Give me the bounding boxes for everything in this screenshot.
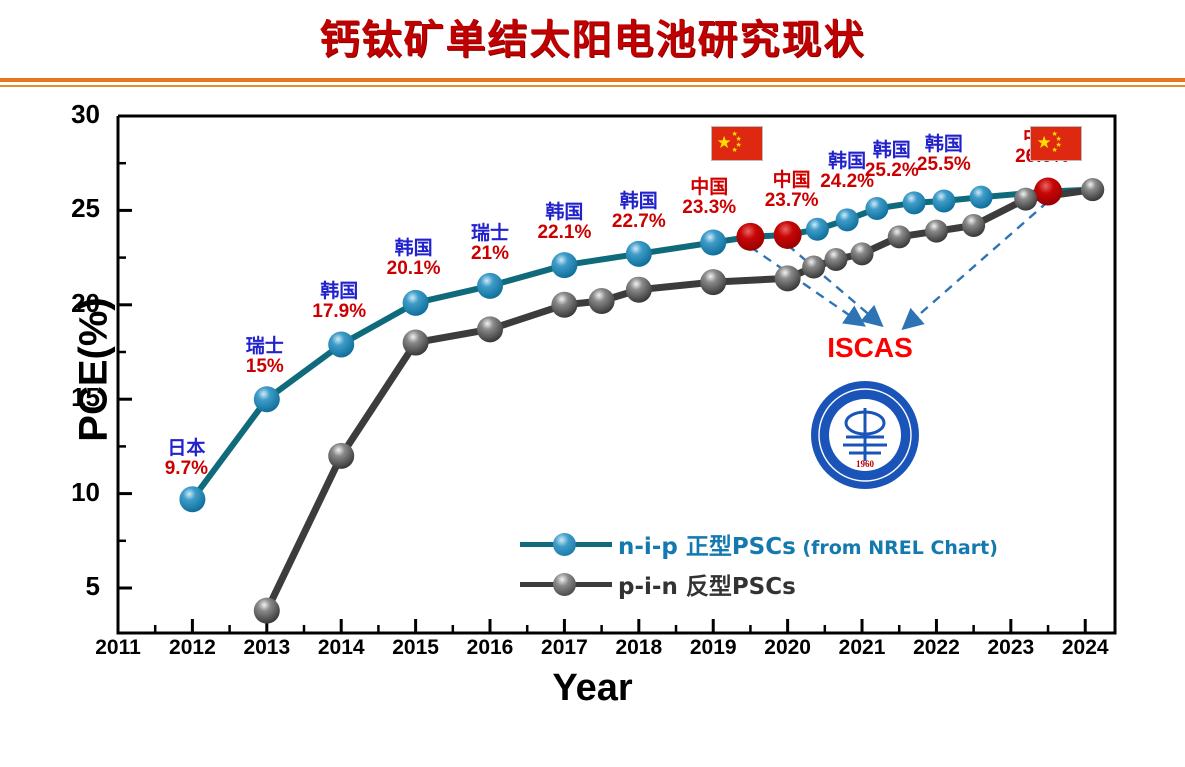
legend-item-nip[interactable]: n-i-p 正型PSCs (from NREL Chart) — [520, 524, 998, 564]
data-point-n-i-p[interactable] — [403, 290, 429, 316]
data-point-p-i-n[interactable] — [802, 256, 825, 279]
x-tick-2013: 2013 — [232, 636, 302, 660]
data-point-p-i-n[interactable] — [1014, 188, 1037, 211]
china-flag-icon: ★★★★★ — [711, 126, 763, 161]
data-point-n-i-p[interactable] — [626, 241, 652, 267]
y-tick-30: 30 — [40, 99, 100, 130]
x-tick-2015: 2015 — [381, 636, 451, 660]
title-divider-thick — [0, 78, 1185, 82]
y-tick-25: 25 — [40, 193, 100, 224]
x-tick-2021: 2021 — [827, 636, 897, 660]
data-point-p-i-n[interactable] — [962, 214, 985, 237]
data-point-n-i-p[interactable] — [970, 186, 993, 209]
china-flag-icon: ★★★★★ — [1030, 126, 1082, 161]
x-tick-2014: 2014 — [306, 636, 376, 660]
data-point-p-i-n[interactable] — [328, 443, 354, 469]
legend-item-pin[interactable]: p-i-n 反型PSCs — [520, 564, 998, 604]
data-point-p-i-n[interactable] — [888, 225, 911, 248]
data-point-n-i-p[interactable] — [806, 218, 829, 241]
data-point-p-i-n[interactable] — [403, 330, 429, 356]
data-point-p-i-n[interactable] — [589, 288, 615, 314]
data-point-p-i-n[interactable] — [254, 598, 280, 624]
data-point-p-i-n[interactable] — [626, 277, 652, 303]
data-point-highlight[interactable] — [1034, 178, 1062, 206]
x-tick-2020: 2020 — [753, 636, 823, 660]
y-tick-10: 10 — [40, 477, 100, 508]
y-tick-20: 20 — [40, 288, 100, 319]
data-point-p-i-n[interactable] — [477, 316, 503, 342]
iscas-callout-label: ISCAS — [760, 332, 980, 364]
data-point-p-i-n[interactable] — [851, 242, 874, 265]
page-title: 钙钛矿单结太阳电池研究现状 — [320, 7, 866, 65]
x-tick-2017: 2017 — [529, 636, 599, 660]
iscas-logo-year: 1960 — [856, 459, 875, 469]
data-point-n-i-p[interactable] — [328, 331, 354, 357]
iscas-logo: 1960 — [805, 375, 925, 495]
data-point-n-i-p[interactable] — [932, 189, 955, 212]
x-tick-2022: 2022 — [901, 636, 971, 660]
slide-root: 钙钛矿单结太阳电池研究现状 — [0, 0, 1185, 767]
x-tick-2019: 2019 — [678, 636, 748, 660]
x-tick-2023: 2023 — [976, 636, 1046, 660]
title-bar: 钙钛矿单结太阳电池研究现状 — [0, 0, 1185, 72]
data-point-p-i-n[interactable] — [925, 220, 948, 243]
data-point-n-i-p[interactable] — [477, 273, 503, 299]
data-point-n-i-p[interactable] — [836, 208, 859, 231]
legend-label-nip: n-i-p 正型PSCs (from NREL Chart) — [618, 527, 998, 561]
data-point-p-i-n[interactable] — [551, 292, 577, 318]
x-tick-2016: 2016 — [455, 636, 525, 660]
data-point-p-i-n[interactable] — [775, 265, 801, 291]
chart-svg — [0, 92, 1185, 767]
data-point-n-i-p[interactable] — [254, 386, 280, 412]
data-point-highlight[interactable] — [774, 221, 802, 249]
data-point-n-i-p[interactable] — [551, 252, 577, 278]
x-tick-2018: 2018 — [604, 636, 674, 660]
data-point-p-i-n[interactable] — [700, 269, 726, 295]
data-point-highlight[interactable] — [736, 223, 764, 251]
data-point-p-i-n[interactable] — [824, 248, 847, 271]
legend-marker-pin — [520, 571, 612, 597]
x-axis-label: Year — [0, 667, 1185, 710]
legend-marker-nip — [520, 531, 612, 557]
x-tick-2011: 2011 — [83, 636, 153, 660]
chart-container: PCE(%) Year 51015202530 2011201220132014… — [0, 92, 1185, 767]
data-point-n-i-p[interactable] — [903, 191, 926, 214]
legend-label-pin: p-i-n 反型PSCs — [618, 567, 796, 601]
y-tick-15: 15 — [40, 382, 100, 413]
data-point-n-i-p[interactable] — [700, 229, 726, 255]
x-tick-2012: 2012 — [157, 636, 227, 660]
data-point-n-i-p[interactable] — [179, 486, 205, 512]
y-tick-5: 5 — [40, 571, 100, 602]
chart-legend: n-i-p 正型PSCs (from NREL Chart) p-i-n 反型P… — [520, 524, 998, 604]
title-divider-thin — [0, 85, 1185, 87]
data-point-p-i-n[interactable] — [1081, 178, 1104, 201]
data-point-n-i-p[interactable] — [865, 197, 888, 220]
x-tick-2024: 2024 — [1050, 636, 1120, 660]
